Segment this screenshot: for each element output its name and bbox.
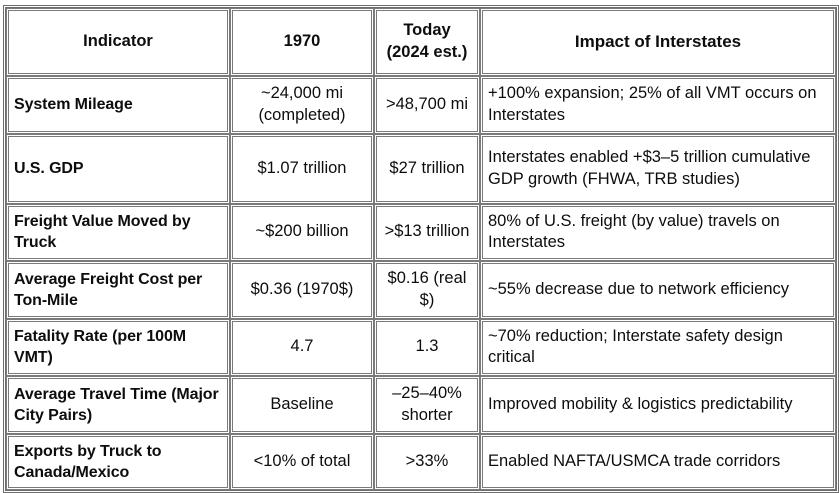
column-header-indicator: Indicator [6, 8, 230, 76]
cell-1970: <10% of total [230, 434, 374, 490]
table-row: Fatality Rate (per 100M VMT) 4.7 1.3 ~70… [6, 319, 836, 377]
cell-1970: 4.7 [230, 319, 374, 377]
table-row: Average Travel Time (Major City Pairs) B… [6, 376, 836, 434]
cell-today: $27 trillion [374, 134, 480, 204]
cell-today: $0.16 (real $) [374, 261, 480, 319]
cell-impact: Improved mobility & logistics predictabi… [480, 376, 836, 434]
table-row: U.S. GDP $1.07 trillion $27 trillion Int… [6, 134, 836, 204]
column-header-today: Today (2024 est.) [374, 8, 480, 76]
cell-1970: Baseline [230, 376, 374, 434]
interstate-impact-table-container: Indicator 1970 Today (2024 est.) Impact … [3, 5, 833, 457]
cell-indicator: U.S. GDP [6, 134, 230, 204]
cell-1970: ~24,000 mi (completed) [230, 76, 374, 134]
cell-impact: 80% of U.S. freight (by value) travels o… [480, 204, 836, 262]
cell-today: –25–40% shorter [374, 376, 480, 434]
cell-today: >48,700 mi [374, 76, 480, 134]
cell-indicator: Average Travel Time (Major City Pairs) [6, 376, 230, 434]
table-row: Freight Value Moved by Truck ~$200 billi… [6, 204, 836, 262]
cell-1970: $1.07 trillion [230, 134, 374, 204]
column-header-1970: 1970 [230, 8, 374, 76]
table-body: System Mileage ~24,000 mi (completed) >4… [6, 76, 836, 490]
cell-1970: $0.36 (1970$) [230, 261, 374, 319]
column-header-impact: Impact of Interstates [480, 8, 836, 76]
table-row: System Mileage ~24,000 mi (completed) >4… [6, 76, 836, 134]
cell-indicator: Fatality Rate (per 100M VMT) [6, 319, 230, 377]
cell-impact: +100% expansion; 25% of all VMT occurs o… [480, 76, 836, 134]
cell-indicator: Exports by Truck to Canada/Mexico [6, 434, 230, 490]
table-header-row: Indicator 1970 Today (2024 est.) Impact … [6, 8, 836, 76]
cell-impact: Interstates enabled +$3–5 trillion cumul… [480, 134, 836, 204]
cell-indicator: Average Freight Cost per Ton-Mile [6, 261, 230, 319]
cell-today: >33% [374, 434, 480, 490]
table-row: Exports by Truck to Canada/Mexico <10% o… [6, 434, 836, 490]
table-header: Indicator 1970 Today (2024 est.) Impact … [6, 8, 836, 76]
cell-impact: ~55% decrease due to network efficiency [480, 261, 836, 319]
table-row: Average Freight Cost per Ton-Mile $0.36 … [6, 261, 836, 319]
interstate-impact-table: Indicator 1970 Today (2024 est.) Impact … [3, 5, 839, 493]
cell-today: 1.3 [374, 319, 480, 377]
cell-impact: ~70% reduction; Interstate safety design… [480, 319, 836, 377]
cell-indicator: System Mileage [6, 76, 230, 134]
cell-impact: Enabled NAFTA/USMCA trade corridors [480, 434, 836, 490]
cell-1970: ~$200 billion [230, 204, 374, 262]
cell-today: >$13 trillion [374, 204, 480, 262]
cell-indicator: Freight Value Moved by Truck [6, 204, 230, 262]
